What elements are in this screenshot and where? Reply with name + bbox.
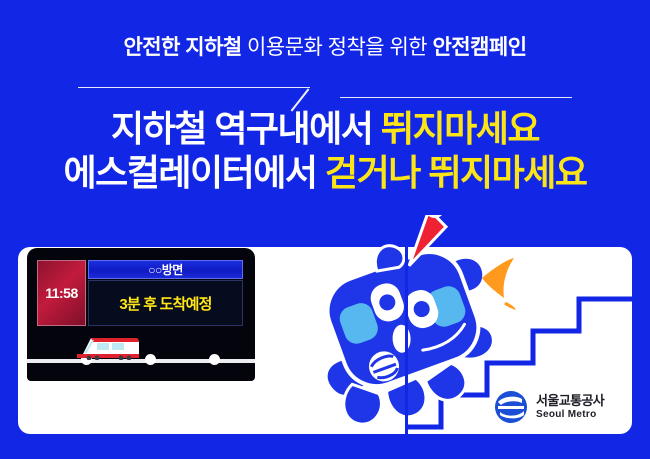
panel-divider <box>405 247 408 434</box>
destination-bar: ○○방면 <box>88 260 243 279</box>
arrival-display-sign: 11:58 ○○방면 3분 후 도착예정 <box>27 248 255 381</box>
logo-name-kr: 서울교통공사 <box>536 394 604 407</box>
station-markers <box>27 354 255 368</box>
station-dot <box>145 354 156 365</box>
clock-display: 11:58 <box>37 260 86 326</box>
headline-line1-yellow: 뛰지마세요 <box>381 108 539 149</box>
logo-name-en: Seoul Metro <box>536 410 604 420</box>
sign-screen: 11:58 ○○방면 3분 후 도착예정 <box>27 248 255 381</box>
divider-line-left <box>78 87 310 88</box>
headline-line-2: 에스컬레이터에서 걷거나 뛰지마세요 <box>0 151 650 195</box>
train-icon <box>75 334 141 360</box>
headline-line1-white: 지하철 역구내에서 <box>111 108 381 149</box>
logo-text: 서울교통공사 Seoul Metro <box>536 394 604 420</box>
clock-time: 11:58 <box>45 285 78 301</box>
header-tagline-part2: 이용문화 정착을 위한 <box>242 36 433 59</box>
safety-campaign-poster: 안전한 지하철 이용문화 정착을 위한 안전캠페인 지하철 역구내에서 뛰지마세… <box>0 0 650 459</box>
seoul-metro-logo: 서울교통공사 Seoul Metro <box>494 390 624 424</box>
station-dot <box>209 354 220 365</box>
seoul-metro-mark-icon <box>494 390 528 424</box>
destination-label: ○○방면 <box>148 261 183 278</box>
headline: 지하철 역구내에서 뛰지마세요 에스컬레이터에서 걷거나 뛰지마세요 <box>0 107 650 195</box>
header-tagline-part1: 안전한 지하철 <box>123 36 241 59</box>
arrival-message-box: 3분 후 도착예정 <box>88 280 243 326</box>
divider-line-right <box>340 97 572 98</box>
header-tagline: 안전한 지하철 이용문화 정착을 위한 안전캠페인 <box>0 34 650 62</box>
headline-line-1: 지하철 역구내에서 뛰지마세요 <box>0 107 650 151</box>
header-tagline-part3: 안전캠페인 <box>432 36 526 59</box>
headline-line2-yellow: 걷거나 뛰지마세요 <box>325 152 586 193</box>
headline-line2-white: 에스컬레이터에서 <box>64 152 325 193</box>
arrival-message: 3분 후 도착예정 <box>119 293 211 314</box>
motion-spark-icon <box>476 258 520 310</box>
